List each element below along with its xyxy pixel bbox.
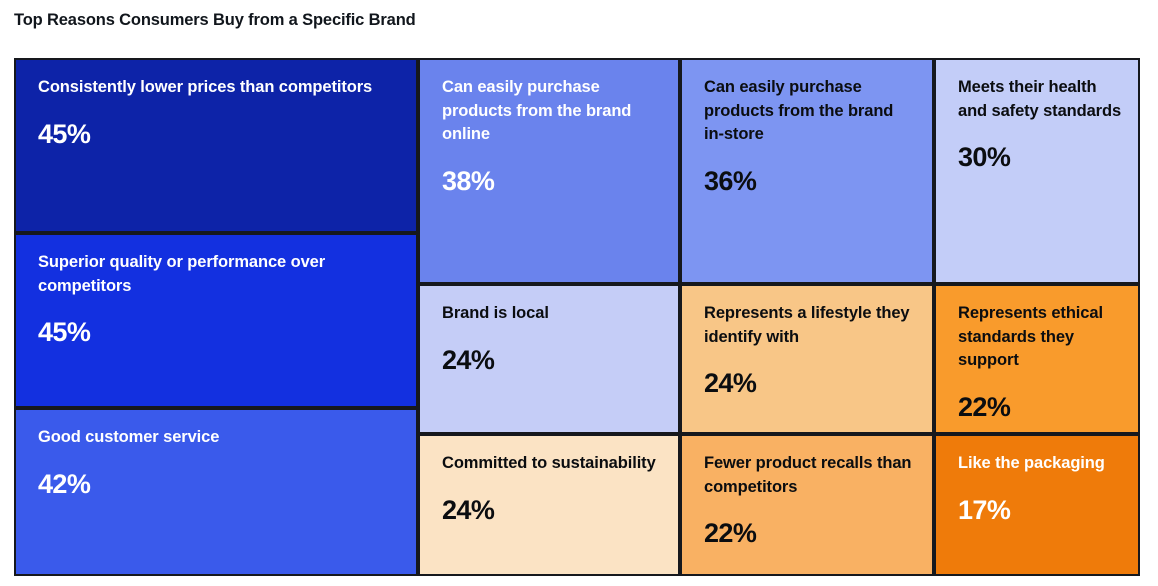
tile-label: Can easily purchase products from the br… [442,76,662,147]
tile-label: Good customer service [38,426,219,450]
tile-value: 17% [958,494,1010,526]
tile-label: Meets their health and safety standards [958,76,1122,123]
tile-value: 42% [38,468,90,500]
tile-label: Superior quality or performance over com… [38,251,400,298]
tile-value: 36% [704,165,756,197]
treemap-tile-purchase-online[interactable]: Can easily purchase products from the br… [418,58,680,284]
tile-value: 24% [442,344,494,376]
tile-label: Represents ethical standards they suppor… [958,302,1122,373]
tile-value: 24% [704,367,756,399]
treemap-tile-lower-prices[interactable]: Consistently lower prices than competito… [14,58,418,233]
tile-value: 38% [442,165,494,197]
treemap-tile-lifestyle-identify[interactable]: Represents a lifestyle they identify wit… [680,284,934,434]
tile-label: Brand is local [442,302,549,326]
treemap-tile-ethical-standards[interactable]: Represents ethical standards they suppor… [934,284,1140,434]
tile-label: Consistently lower prices than competito… [38,76,372,100]
tile-label: Represents a lifestyle they identify wit… [704,302,916,349]
tile-label: Can easily purchase products from the br… [704,76,916,147]
treemap-tile-fewer-recalls[interactable]: Fewer product recalls than competitors 2… [680,434,934,576]
treemap-tile-like-packaging[interactable]: Like the packaging 17% [934,434,1140,576]
treemap-chart-page: Top Reasons Consumers Buy from a Specifi… [0,0,1158,586]
tile-value: 22% [958,391,1010,423]
tile-label: Like the packaging [958,452,1105,476]
tile-value: 45% [38,118,90,150]
page-title: Top Reasons Consumers Buy from a Specifi… [14,9,1114,39]
treemap-tile-brand-is-local[interactable]: Brand is local 24% [418,284,680,434]
treemap-tile-purchase-in-store[interactable]: Can easily purchase products from the br… [680,58,934,284]
treemap-container: Consistently lower prices than competito… [14,58,1140,576]
tile-label: Fewer product recalls than competitors [704,452,916,499]
treemap-tile-good-customer-service[interactable]: Good customer service 42% [14,408,418,576]
tile-value: 24% [442,494,494,526]
tile-value: 45% [38,316,90,348]
treemap-tile-health-safety-standards[interactable]: Meets their health and safety standards … [934,58,1140,284]
treemap-tile-superior-quality[interactable]: Superior quality or performance over com… [14,233,418,408]
tile-label: Committed to sustainability [442,452,656,476]
treemap-tile-committed-sustainability[interactable]: Committed to sustainability 24% [418,434,680,576]
tile-value: 30% [958,141,1010,173]
tile-value: 22% [704,517,756,549]
